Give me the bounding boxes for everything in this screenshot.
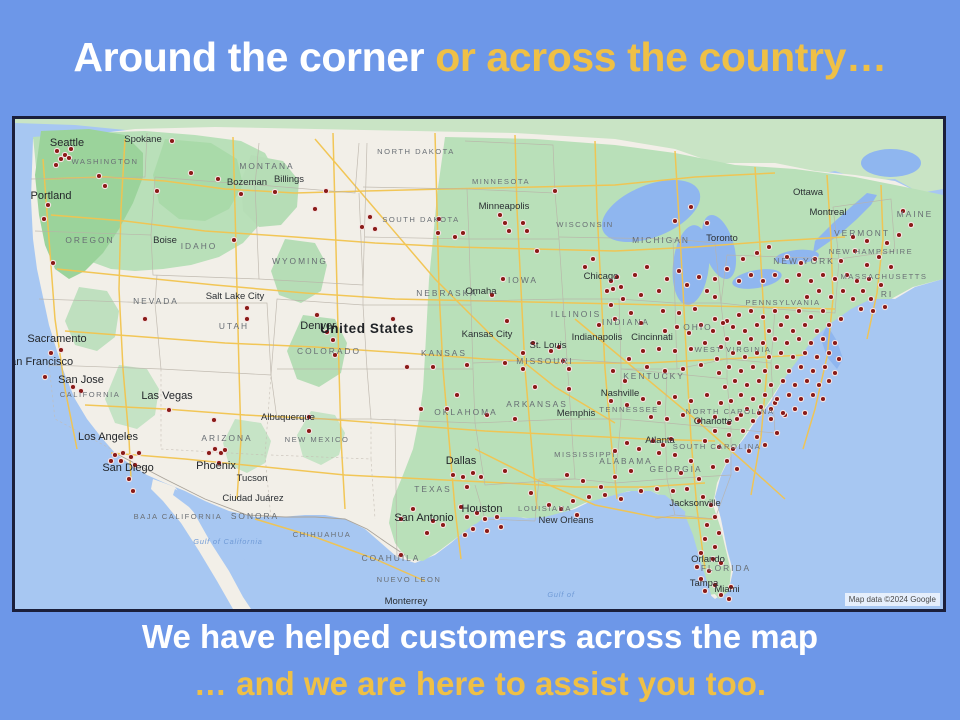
city-label: Bozeman [227, 177, 267, 188]
city-label: Nashville [601, 388, 640, 399]
state-label: TEXAS [414, 484, 451, 494]
city-label: Ottawa [793, 187, 824, 198]
state-label: ALABAMA [599, 456, 653, 466]
state-label: IOWA [508, 275, 538, 285]
state-label: KENTUCKY [623, 371, 685, 381]
city-label: Montreal [810, 207, 847, 218]
city-label: Sacramento [27, 333, 86, 345]
slide-footer: We have helped customers across the map … [0, 612, 960, 720]
state-label: WASHINGTON [72, 157, 139, 166]
city-label: Los Angeles [78, 431, 138, 443]
map-container[interactable]: WASHINGTONOREGONIDAHOMONTANAWYOMINGNEVAD… [12, 116, 946, 612]
state-label: NORTH DAKOTA [377, 147, 455, 156]
state-label: SOUTH DAKOTA [382, 215, 459, 224]
city-label: Indianapolis [572, 332, 623, 343]
city-label: Albuquerque [261, 412, 315, 423]
state-label: CHIHUAHUA [293, 530, 352, 539]
city-label: San Jose [58, 374, 104, 386]
city-label: Toronto [706, 233, 738, 244]
city-label: Boise [153, 235, 177, 246]
city-label: St. Louis [530, 340, 567, 351]
state-label: ILLINOIS [551, 309, 601, 319]
city-label: New Orleans [539, 515, 594, 526]
city-label: Ciudad Juárez [222, 493, 284, 504]
city-label: Memphis [557, 408, 596, 419]
state-label: NEW YORK [773, 256, 834, 266]
city-label: Salt Lake City [206, 291, 265, 302]
state-label: NUEVO LEON [377, 575, 442, 584]
state-label: WISCONSIN [556, 220, 613, 229]
title-line: Around the corner or across the country… [73, 37, 886, 78]
state-label: SONORA [231, 511, 279, 521]
state-label: NEW MEXICO [285, 435, 350, 444]
state-label: MICHIGAN [632, 235, 690, 245]
city-label: Phoenix [196, 460, 236, 472]
northern-lake [861, 149, 921, 177]
city-label: Cincinnati [631, 332, 673, 343]
city-label: San Diego [102, 462, 153, 474]
state-label: BAJA CALIFORNIA [134, 512, 223, 521]
slide-title: Around the corner or across the country… [0, 26, 960, 88]
city-label: Houston [462, 503, 503, 515]
state-label: MASSACHUSETTS [840, 272, 927, 281]
state-label: NORTH CAROLINA [686, 407, 775, 416]
state-label: KANSAS [421, 348, 467, 358]
state-label: ARIZONA [201, 433, 252, 443]
country-label: United States [320, 321, 414, 336]
state-label: COLORADO [297, 346, 361, 356]
map-graphic[interactable]: WASHINGTONOREGONIDAHOMONTANAWYOMINGNEVAD… [15, 119, 943, 609]
city-label: Monterrey [385, 596, 428, 607]
city-label: Billings [274, 174, 304, 185]
state-label: MONTANA [239, 161, 294, 171]
state-label: INDIANA [602, 317, 650, 327]
state-label: SOUTH CAROLINA [673, 442, 762, 451]
city-label: Miami [714, 584, 739, 595]
state-label: VERMONT [834, 228, 890, 238]
map-attribution: Map data ©2024 Google [845, 593, 940, 606]
state-label: UTAH [219, 321, 249, 331]
state-label: MINNESOTA [472, 177, 530, 186]
city-label: Kansas City [462, 329, 513, 340]
map-canvas[interactable]: WASHINGTONOREGONIDAHOMONTANAWYOMINGNEVAD… [15, 119, 943, 609]
state-label: NEVADA [133, 296, 179, 306]
city-label: San Antonio [394, 512, 453, 524]
city-label: Dallas [446, 455, 477, 467]
city-label: Portland [31, 190, 72, 202]
state-label: WEST VIRGINIA [695, 345, 772, 354]
city-label: Seattle [50, 137, 84, 149]
state-label: OHIO [683, 322, 712, 332]
state-label: OREGON [65, 235, 114, 245]
state-label: COAHUILA [362, 553, 421, 563]
state-label: TENNESSEE [599, 405, 659, 414]
city-label: Las Vegas [141, 390, 193, 402]
city-label: Spokane [124, 134, 162, 145]
state-label: MISSOURI [516, 356, 573, 366]
water-label: Gulf of California [193, 537, 262, 546]
state-label: GEORGIA [649, 464, 702, 474]
state-label: PENNSYLVANIA [745, 298, 820, 307]
title-part-gold: or across the country… [435, 34, 886, 80]
state-label: RI [881, 289, 893, 299]
city-label: Tucson [237, 473, 268, 484]
state-label: IDAHO [181, 241, 218, 251]
city-label: Chicago [584, 271, 619, 282]
slide-root: Around the corner or across the country… [0, 0, 960, 720]
city-label: Minneapolis [479, 201, 530, 212]
state-label: LOUISIANA [518, 504, 572, 513]
footer-line-2: … and we are here to assist you too. [194, 665, 766, 704]
city-label: Charlotte [694, 416, 733, 427]
city-label: Atlanta [645, 435, 675, 446]
footer-line-1: We have helped customers across the map [142, 618, 818, 657]
city-label: Orlando [691, 554, 725, 565]
city-label: Jacksonville [669, 498, 720, 509]
state-label: OKLAHOMA [434, 407, 497, 417]
state-label: MAINE [897, 209, 934, 219]
state-label: WYOMING [272, 256, 328, 266]
state-label: CALIFORNIA [60, 390, 121, 399]
state-label: NEW HAMPSHIRE [829, 247, 913, 256]
city-label: Omaha [465, 286, 497, 297]
title-part-white: Around the corner [73, 34, 435, 80]
city-label: San Francisco [15, 356, 73, 368]
water-label: Gulf of [547, 590, 575, 599]
